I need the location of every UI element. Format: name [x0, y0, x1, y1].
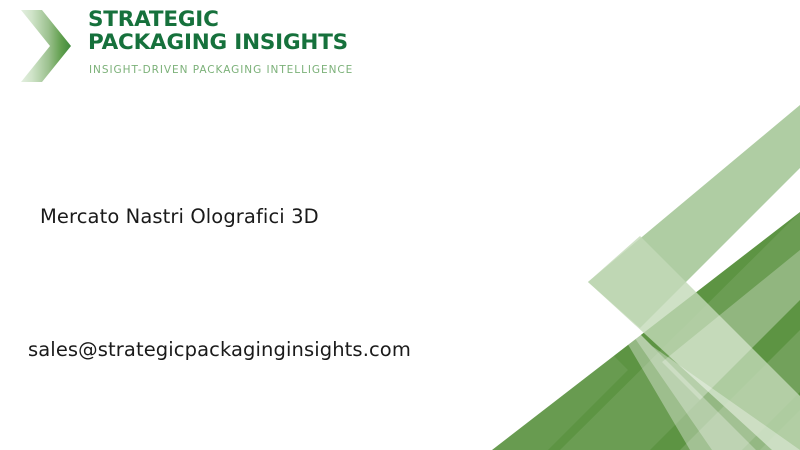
decor-chevron-light-upper: [588, 105, 800, 328]
decor-band-tone-2: [680, 330, 800, 450]
decor-wash-lower-left: [492, 342, 628, 450]
decor-triangle-base: [492, 212, 800, 450]
decor-band-pale-wide: [596, 290, 800, 450]
brand-logo: STRATEGIC PACKAGING INSIGHTS INSIGHT-DRI…: [0, 0, 420, 100]
slide-canvas: STRATEGIC PACKAGING INSIGHTS INSIGHT-DRI…: [0, 0, 800, 450]
decor-band-tone-3: [760, 410, 800, 450]
logo-wordmark-line-2: PACKAGING INSIGHTS: [88, 31, 348, 54]
logo-wordmark-line-1: STRATEGIC: [88, 8, 348, 31]
contact-email: sales@strategicpackaginginsights.com: [28, 338, 411, 361]
logo-tagline: INSIGHT-DRIVEN PACKAGING INTELLIGENCE: [89, 64, 353, 76]
decor-chevron-light-lower: [588, 236, 800, 450]
decor-band-tone-1: [560, 212, 800, 450]
decor-chevron-echo: [662, 250, 800, 400]
decor-highlight-stripe: [614, 308, 756, 450]
chevron-logo-mark: [20, 9, 72, 83]
page-title: Mercato Nastri Olografici 3D: [40, 205, 319, 228]
logo-wordmark: STRATEGIC PACKAGING INSIGHTS: [88, 8, 348, 54]
